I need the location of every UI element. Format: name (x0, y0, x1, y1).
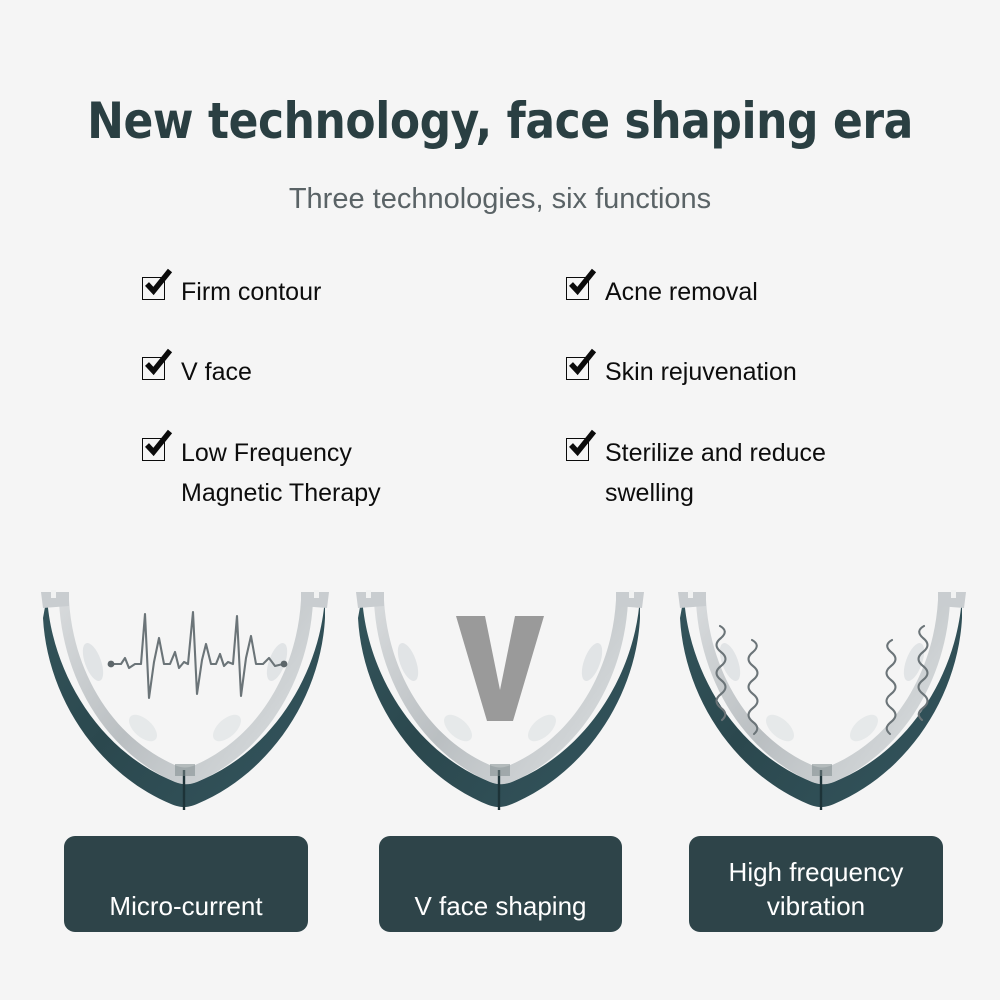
checked-checkbox-icon (566, 357, 589, 380)
feature-item-skin-rejuvenation: Skin rejuvenation (566, 352, 797, 392)
checked-checkbox-icon (142, 357, 165, 380)
ecg-waveform-icon (108, 612, 288, 698)
feature-label: Firm contour (181, 272, 321, 312)
product-image-high-frequency-vibration (662, 578, 982, 813)
device-body (678, 590, 966, 810)
product-label-row: Micro-current V face shaping High freque… (0, 836, 1000, 932)
feature-list: Firm contour V face Low Frequency Magnet… (0, 272, 1000, 532)
product-image-micro-current (25, 578, 345, 813)
page-subtitle: Three technologies, six functions (0, 183, 1000, 216)
feature-item-low-frequency-magnetic-therapy: Low Frequency Magnetic Therapy (142, 433, 381, 513)
product-image-row (0, 578, 1000, 818)
label-text: High frequency vibration (729, 855, 904, 923)
device-body (41, 590, 329, 810)
feature-item-sterilize-and-reduce-swelling: Sterilize and reduce swelling (566, 433, 826, 513)
feature-item-firm-contour: Firm contour (142, 272, 321, 312)
product-label-high-frequency-vibration: High frequency vibration (689, 836, 943, 932)
product-label-v-face-shaping: V face shaping (379, 836, 622, 932)
vibration-squiggle-icon (717, 626, 928, 734)
feature-label: Acne removal (605, 272, 758, 312)
label-text: Micro-current (109, 889, 262, 923)
feature-label: V face (181, 352, 252, 392)
label-text: V face shaping (414, 889, 586, 923)
infographic-page: New technology, face shaping era Three t… (0, 0, 1000, 1000)
checked-checkbox-icon (566, 438, 589, 461)
feature-item-acne-removal: Acne removal (566, 272, 758, 312)
product-image-v-face-shaping (340, 578, 660, 813)
feature-item-v-face: V face (142, 352, 252, 392)
feature-label: Sterilize and reduce swelling (605, 433, 826, 513)
feature-label: Skin rejuvenation (605, 352, 797, 392)
letter-v-icon (456, 616, 544, 721)
product-label-micro-current: Micro-current (64, 836, 308, 932)
checked-checkbox-icon (566, 277, 589, 300)
page-title: New technology, face shaping era (60, 92, 940, 150)
checked-checkbox-icon (142, 277, 165, 300)
checked-checkbox-icon (142, 438, 165, 461)
feature-label: Low Frequency Magnetic Therapy (181, 433, 381, 513)
